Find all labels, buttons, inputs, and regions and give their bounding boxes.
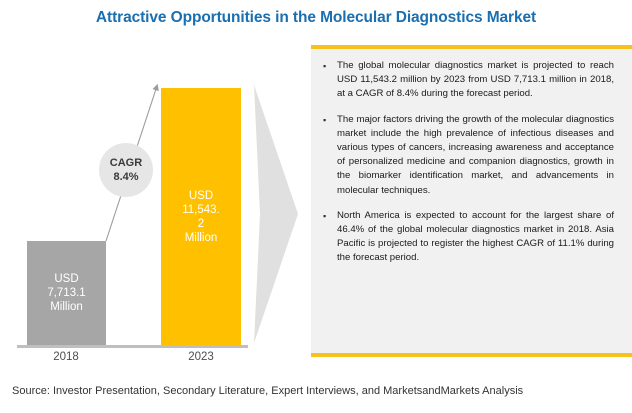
infographic-page: Attractive Opportunities in the Molecula… <box>0 0 632 413</box>
bar-2023-label-line2: 11,543. <box>182 203 220 217</box>
panel-bottom-rule <box>311 353 632 357</box>
bullet-square-icon: ▪ <box>322 59 337 102</box>
bar-2018: USD 7,713.1 Million <box>27 241 106 345</box>
growth-chevron-icon <box>250 85 298 343</box>
list-item-text: The global molecular diagnostics market … <box>337 59 622 102</box>
bullet-square-icon: ▪ <box>322 209 337 266</box>
insights-list: ▪ The global molecular diagnostics marke… <box>322 59 622 277</box>
list-item: ▪ North America is expected to account f… <box>322 209 622 266</box>
cagr-label: CAGR <box>110 156 142 170</box>
list-item-text: The major factors driving the growth of … <box>337 113 622 198</box>
panel-top-rule <box>311 45 632 49</box>
bar-2018-label-line2: 7,713.1 <box>47 286 85 300</box>
bar-chart: USD 7,713.1 Million USD 11,543. 2 Millio… <box>0 45 305 360</box>
list-item: ▪ The major factors driving the growth o… <box>322 113 622 198</box>
cagr-badge: CAGR 8.4% <box>99 143 153 197</box>
bar-2023-label-line3: 2 <box>198 217 204 231</box>
source-note: Source: Investor Presentation, Secondary… <box>12 385 523 397</box>
cagr-value: 8.4% <box>113 170 138 184</box>
bar-2023-label-line4: Million <box>185 231 218 245</box>
bullet-square-icon: ▪ <box>322 113 337 198</box>
page-title: Attractive Opportunities in the Molecula… <box>0 9 632 27</box>
x-axis-tick-2018: 2018 <box>36 351 96 363</box>
list-item: ▪ The global molecular diagnostics marke… <box>322 59 622 102</box>
insights-panel: ▪ The global molecular diagnostics marke… <box>311 45 632 357</box>
bar-2018-label-line3: Million <box>50 300 83 314</box>
x-axis-tick-2023: 2023 <box>171 351 231 363</box>
bar-2023-label-line1: USD <box>189 189 213 203</box>
x-axis-line <box>17 345 248 348</box>
list-item-text: North America is expected to account for… <box>337 209 622 266</box>
bar-2018-label-line1: USD <box>54 272 78 286</box>
bar-2023: USD 11,543. 2 Million <box>161 88 241 345</box>
